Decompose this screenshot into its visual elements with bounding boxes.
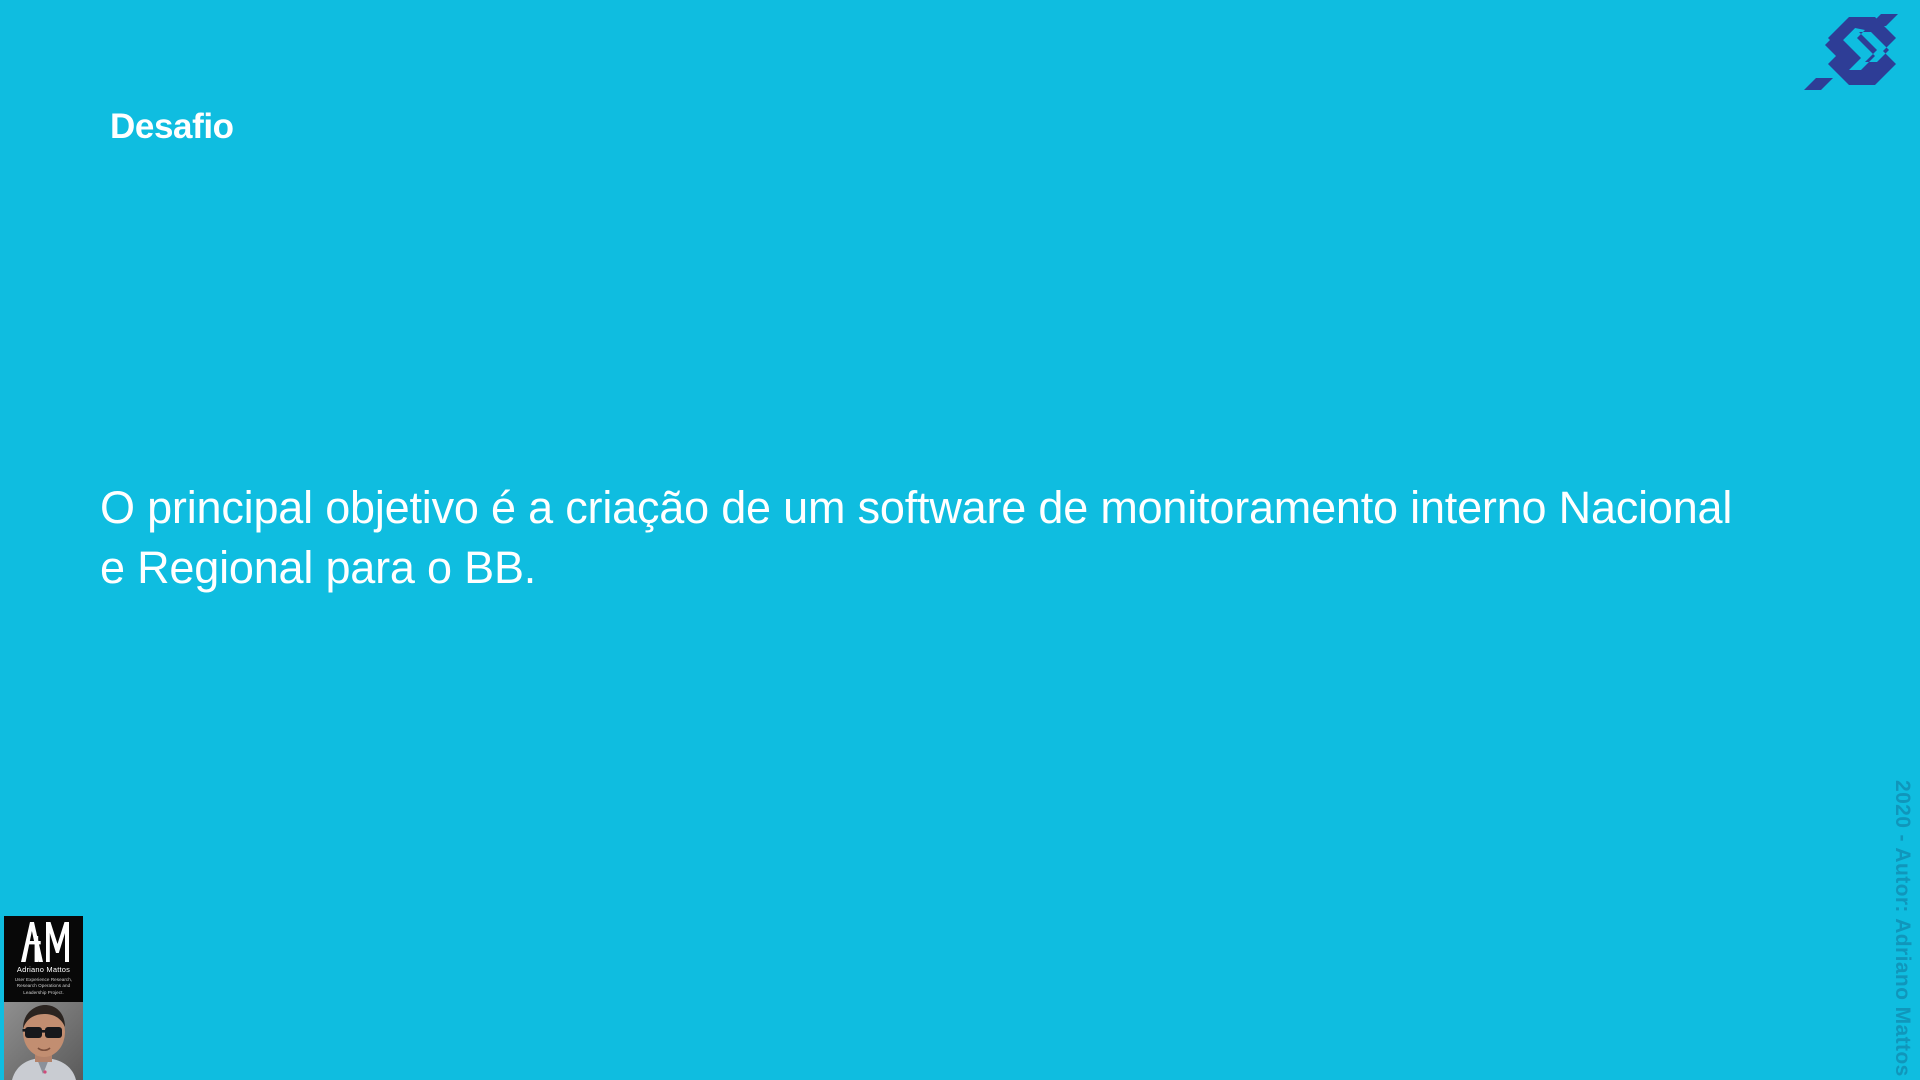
- author-logo-name: Adriano Mattos: [17, 966, 70, 974]
- author-portrait-image: [4, 1002, 83, 1080]
- author-credit-vertical: 2020 - Autor: Adriano Mattos: [1890, 780, 1914, 1077]
- banco-do-brasil-logo-icon: [1803, 6, 1911, 98]
- author-photo: [4, 1002, 83, 1080]
- author-logo-tagline: User Experience Research, Research Opera…: [11, 977, 77, 997]
- slide-canvas: Desafio O principal objetivo é a criação…: [0, 0, 1920, 1080]
- author-logo-card: Adriano Mattos User Experience Research,…: [4, 916, 83, 1002]
- am-monogram-icon: [17, 920, 71, 964]
- author-branding-stack: Adriano Mattos User Experience Research,…: [4, 916, 83, 1080]
- body-paragraph: O principal objetivo é a criação de um s…: [100, 478, 1760, 598]
- page-title: Desafio: [110, 109, 234, 144]
